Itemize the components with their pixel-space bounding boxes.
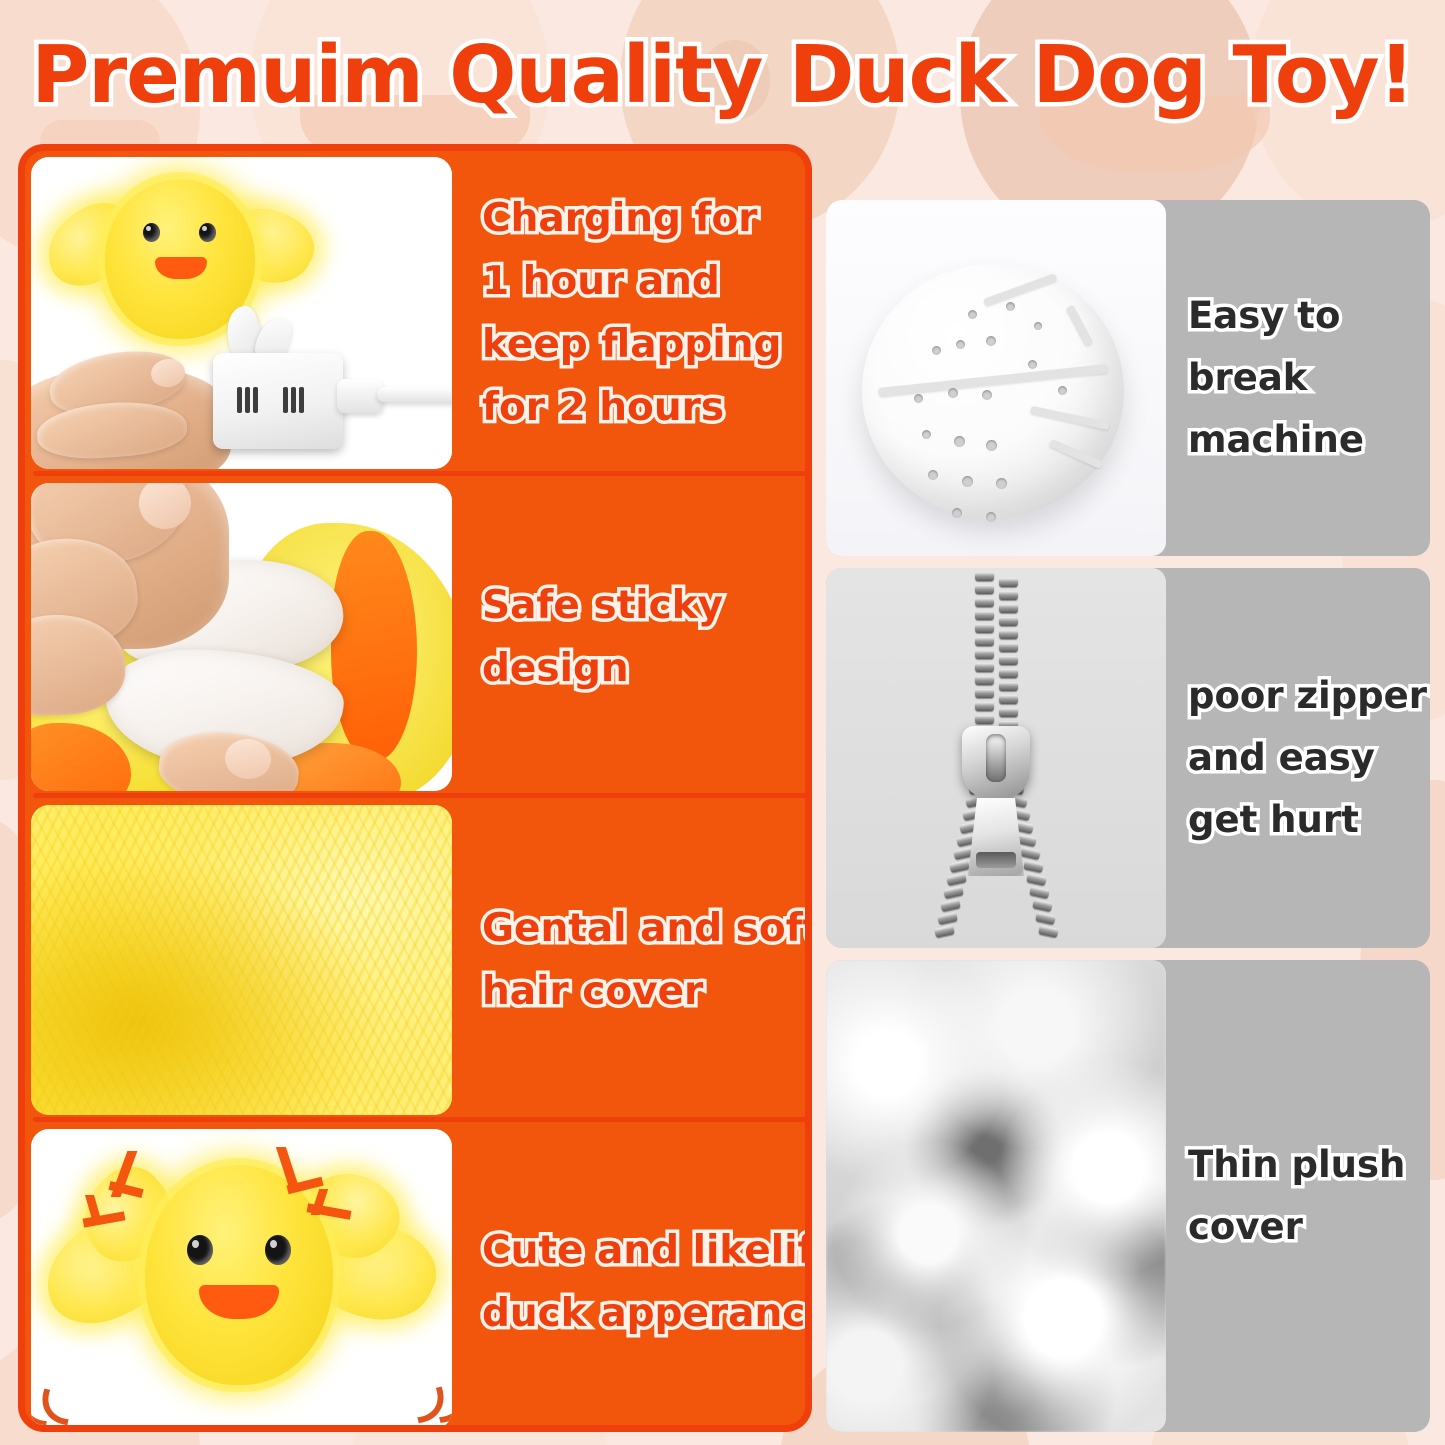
zipper-tooth bbox=[1035, 912, 1055, 925]
zipper-tooth bbox=[947, 873, 967, 886]
cons-caption-ball: Easy to break machine bbox=[1166, 200, 1430, 556]
plastic-ball bbox=[862, 264, 1124, 518]
flapping-duck-photo bbox=[31, 1129, 452, 1429]
zipper-tooth bbox=[975, 585, 994, 594]
pros-row-charging: Charging for 1 hour and keep flapping fo… bbox=[25, 151, 805, 475]
pros-caption-sticky: Safe sticky design bbox=[452, 477, 805, 797]
pros-panel: Charging for 1 hour and keep flapping fo… bbox=[18, 144, 812, 1432]
pros-row-appearance: Cute and likelife duck apperance bbox=[25, 1123, 805, 1432]
yellow-fur-closeup-photo bbox=[31, 805, 452, 1115]
caption-line: 1 hour and bbox=[482, 250, 795, 313]
zipper-tooth bbox=[1029, 886, 1049, 899]
zipper-tooth bbox=[999, 669, 1018, 678]
caption-line: break bbox=[1188, 347, 1424, 409]
zipper-tooth bbox=[975, 715, 994, 724]
zipper-tooth bbox=[999, 604, 1018, 613]
zipper-slider-slot bbox=[986, 734, 1006, 782]
caption-line: keep flapping bbox=[482, 313, 795, 376]
usb-cable bbox=[337, 379, 383, 413]
velcro-sticky-closure-photo bbox=[31, 483, 452, 791]
caption-line: duck apperance bbox=[482, 1282, 812, 1345]
zipper-tooth bbox=[999, 695, 1018, 704]
zipper-tooth bbox=[975, 663, 994, 672]
caption-line: machine bbox=[1188, 409, 1424, 471]
zipper-tooth bbox=[975, 624, 994, 633]
zipper-tooth bbox=[1032, 899, 1052, 912]
caption-line: Cute and likelife bbox=[482, 1219, 812, 1282]
caption-line: cover bbox=[1188, 1196, 1424, 1258]
zipper-tooth bbox=[943, 886, 963, 899]
zipper-illustration bbox=[826, 568, 1166, 948]
pros-caption-fur: Gental and soft hair cover bbox=[452, 799, 812, 1121]
row-divider bbox=[33, 471, 811, 476]
cons-row-zipper: poor zipper and easy get hurt bbox=[826, 568, 1430, 948]
metal-zipper-photo bbox=[826, 568, 1166, 948]
caption-line: Gental and soft bbox=[482, 897, 812, 960]
caption-line: Thin plush bbox=[1188, 1134, 1424, 1196]
zipper-tooth bbox=[950, 860, 970, 873]
cons-caption-zipper: poor zipper and easy get hurt bbox=[1166, 568, 1430, 948]
row-divider bbox=[33, 1117, 811, 1122]
caption-line: design bbox=[482, 637, 795, 700]
content-area: Charging for 1 hour and keep flapping fo… bbox=[0, 136, 1445, 1432]
pros-row-sticky: Safe sticky design bbox=[25, 477, 805, 797]
zipper-tooth bbox=[1038, 925, 1058, 938]
zipper-tooth bbox=[937, 912, 957, 925]
row-divider bbox=[33, 793, 811, 798]
zipper-tooth bbox=[975, 637, 994, 646]
cons-caption-plush: Thin plush cover bbox=[1166, 960, 1430, 1432]
zipper-tooth bbox=[999, 617, 1018, 626]
thin-grey-plush-photo bbox=[826, 960, 1166, 1432]
cons-panel: Easy to break machine poor zipper and ea… bbox=[826, 144, 1430, 1432]
zipper-tooth bbox=[975, 676, 994, 685]
charging-module bbox=[213, 353, 343, 449]
zipper-pull-hole bbox=[976, 852, 1016, 868]
zipper-tooth bbox=[975, 702, 994, 711]
title-bar: Premuim Quality Duck Dog Toy! bbox=[0, 22, 1445, 127]
zipper-tooth bbox=[999, 656, 1018, 665]
zipper-tooth bbox=[999, 682, 1018, 691]
caption-line: poor zipper bbox=[1188, 665, 1427, 727]
zipper-tooth bbox=[999, 630, 1018, 639]
duck-with-charger-photo bbox=[31, 157, 452, 469]
zipper-tooth bbox=[1023, 860, 1043, 873]
caption-line: Safe sticky bbox=[482, 574, 795, 637]
page-title: Premuim Quality Duck Dog Toy! bbox=[31, 29, 1413, 121]
zipper-tooth bbox=[975, 689, 994, 698]
caption-line: get hurt bbox=[1188, 789, 1427, 851]
zipper-tooth bbox=[975, 572, 994, 581]
caption-line: for 2 hours bbox=[482, 376, 795, 439]
zipper-tooth bbox=[975, 598, 994, 607]
zipper-tooth bbox=[975, 611, 994, 620]
zipper-tooth bbox=[934, 925, 954, 938]
perforated-plastic-ball-photo bbox=[826, 200, 1166, 556]
pros-row-fur: Gental and soft hair cover bbox=[25, 799, 805, 1121]
pros-caption-charging: Charging for 1 hour and keep flapping fo… bbox=[452, 151, 805, 475]
caption-line: and easy bbox=[1188, 727, 1427, 789]
zipper-tooth bbox=[999, 643, 1018, 652]
caption-line: Easy to bbox=[1188, 285, 1424, 347]
zipper-tooth bbox=[999, 578, 1018, 587]
caption-line: Charging for bbox=[482, 187, 795, 250]
cons-row-ball: Easy to break machine bbox=[826, 200, 1430, 556]
zipper-tooth bbox=[1026, 873, 1046, 886]
cons-row-plush: Thin plush cover bbox=[826, 960, 1430, 1432]
caption-line: hair cover bbox=[482, 960, 812, 1023]
zipper-tooth bbox=[940, 899, 960, 912]
zipper-tooth bbox=[1020, 847, 1040, 860]
zipper-tooth bbox=[975, 650, 994, 659]
pros-caption-appearance: Cute and likelife duck apperance bbox=[452, 1123, 812, 1432]
zipper-tooth bbox=[999, 591, 1018, 600]
zipper-tooth bbox=[999, 708, 1018, 717]
